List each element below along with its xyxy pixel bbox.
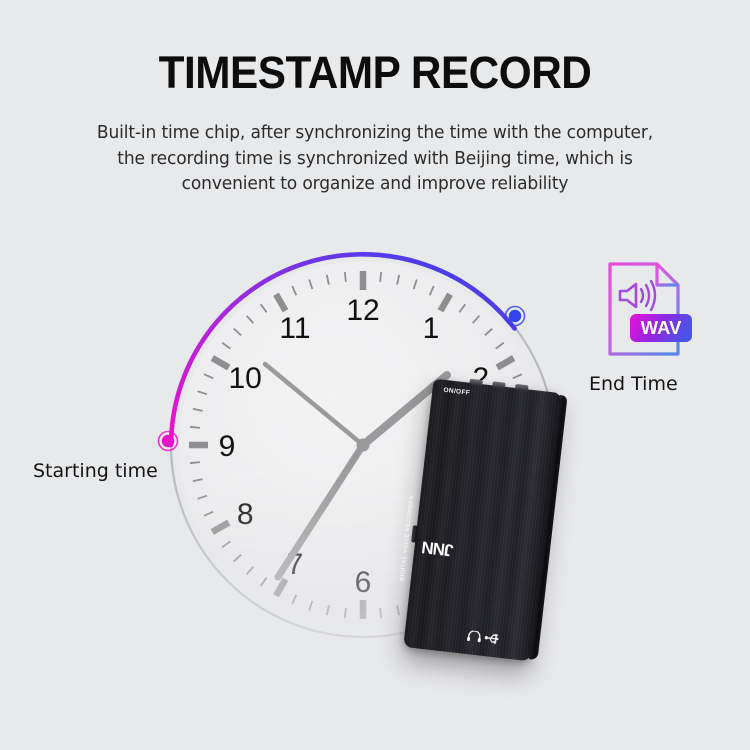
start-time-label: Starting time	[33, 460, 158, 482]
clock-tick-minor	[380, 272, 381, 282]
clock-numeral: 1	[423, 312, 440, 345]
clock-numeral: 10	[229, 362, 262, 395]
clock-numeral: 9	[219, 430, 236, 463]
clock-tick-minor	[345, 608, 346, 618]
hand-pivot	[357, 439, 370, 452]
clock-numeral: 11	[279, 312, 310, 345]
clock-tick-minor	[380, 608, 381, 618]
usb-icon	[484, 632, 502, 645]
clock-tick-minor	[190, 462, 200, 463]
clock-tick-minor	[190, 427, 200, 428]
headphone-icon	[466, 630, 482, 643]
port-icon	[515, 384, 529, 391]
wav-file-icon[interactable]: WAV	[600, 258, 698, 363]
clock-numeral: 8	[237, 498, 254, 531]
clock-numeral: 6	[355, 566, 372, 599]
end-time-label: End Time	[589, 373, 678, 395]
clock-tick-minor	[345, 272, 346, 282]
port-icon	[469, 379, 483, 386]
clock-illustration: 121234567891011 Starting time End Time	[0, 0, 750, 750]
start-time-marker[interactable]	[159, 432, 178, 451]
wav-badge-label: WAV	[641, 317, 682, 338]
port-icon	[492, 381, 506, 388]
end-time-marker[interactable]	[506, 307, 525, 326]
clock-numeral: 12	[346, 294, 379, 327]
device-brand-logo: JNN	[421, 537, 454, 560]
speaker-icon	[620, 281, 655, 310]
